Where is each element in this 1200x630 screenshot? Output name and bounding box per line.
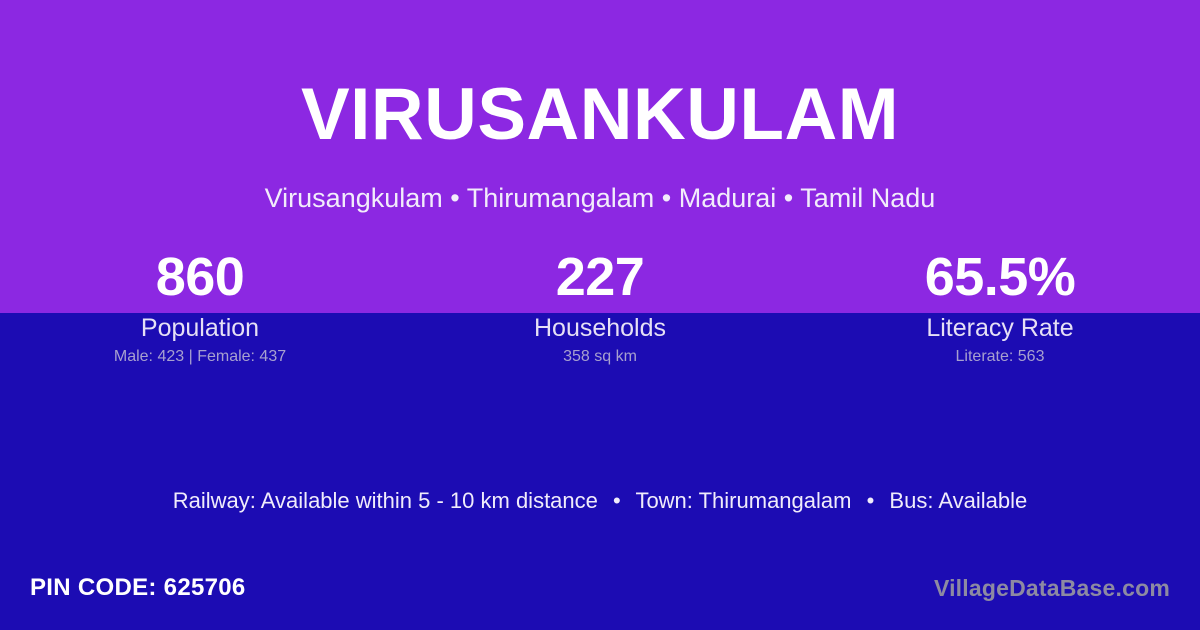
page-title: VIRUSANKULAM [0,78,1200,151]
stat-value-households: 227 [400,243,800,311]
stat-sub-households: 358 sq km [400,345,800,369]
amenity-town: Town: Thirumangalam [635,488,851,513]
stat-population: 860 Population Male: 423 | Female: 437 [0,243,400,369]
stat-label-literacy-rate: Literacy Rate [800,311,1200,345]
amenity-separator-1: • [604,486,630,516]
amenity-separator-2: • [858,486,884,516]
amenities-line: Railway: Available within 5 - 10 km dist… [0,486,1200,516]
pin-code: PIN CODE: 625706 [30,574,246,602]
stat-value-literacy-rate: 65.5% [800,243,1200,311]
amenity-bus: Bus: Available [889,488,1027,513]
stat-literacy-rate: 65.5% Literacy Rate Literate: 563 [800,243,1200,369]
stat-label-population: Population [0,311,400,345]
stat-value-population: 860 [0,243,400,311]
breadcrumb: Virusangkulam • Thirumangalam • Madurai … [0,182,1200,214]
stat-label-households: Households [400,311,800,345]
stat-sub-population: Male: 423 | Female: 437 [0,345,400,369]
stat-households: 227 Households 358 sq km [400,243,800,369]
site-branding: VillageDataBase.com [934,575,1170,602]
stat-sub-literacy-rate: Literate: 563 [800,345,1200,369]
amenity-railway: Railway: Available within 5 - 10 km dist… [173,488,598,513]
footer: PIN CODE: 625706 VillageDataBase.com [0,560,1200,630]
village-info-card: VIRUSANKULAM Virusangkulam • Thirumangal… [0,0,1200,630]
stats-row: 860 Population Male: 423 | Female: 437 2… [0,243,1200,369]
